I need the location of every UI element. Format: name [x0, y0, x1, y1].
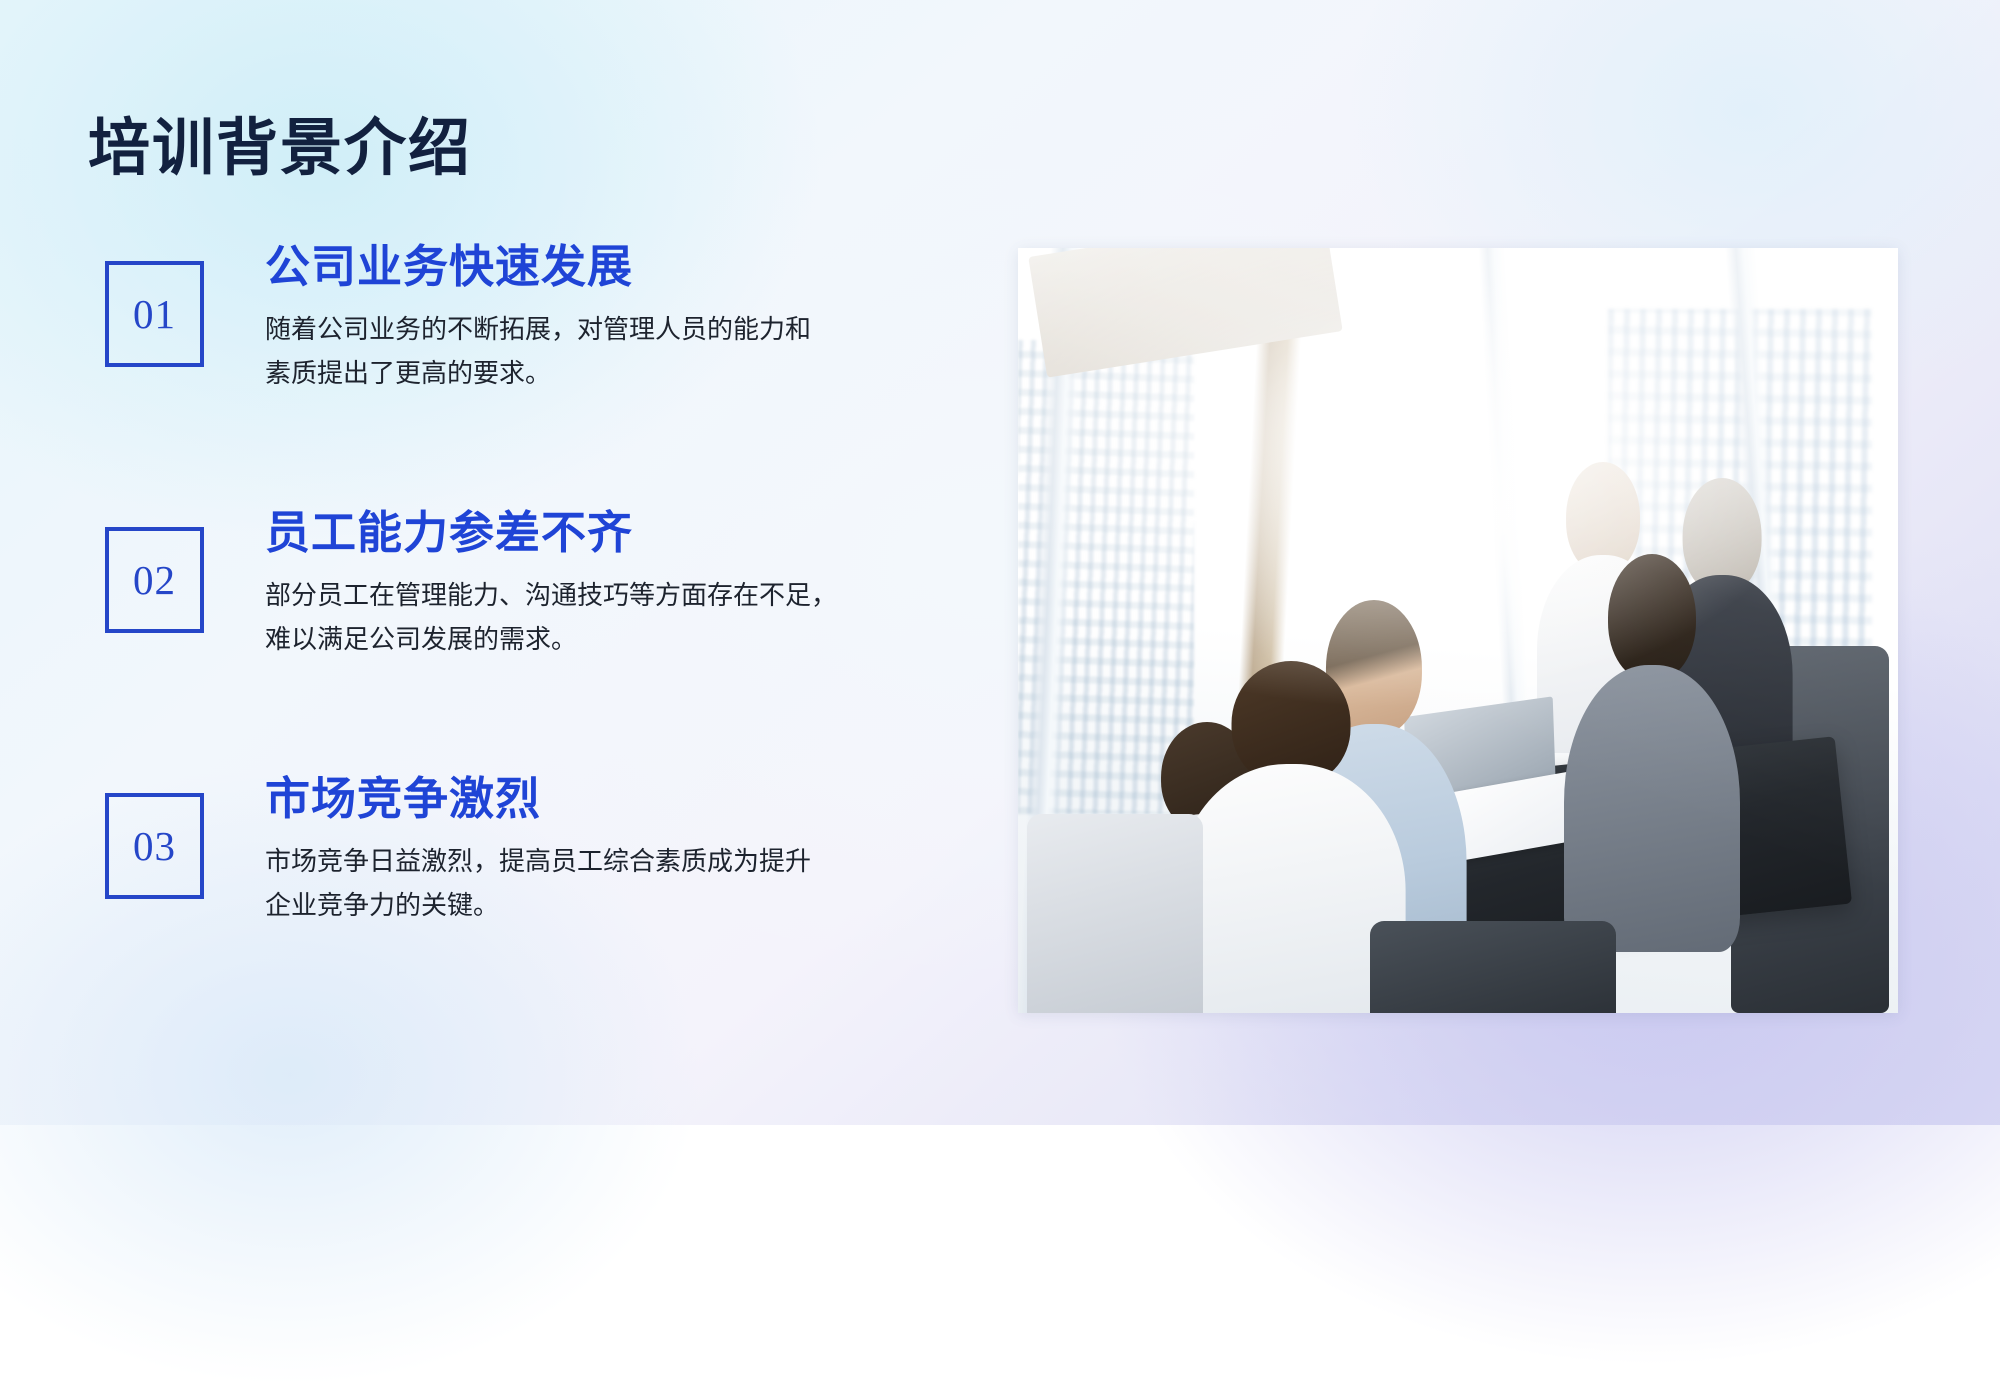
- slide: 培训背景介绍 01 公司业务快速发展 随着公司业务的不断拓展，对管理人员的能力和…: [0, 0, 2000, 1125]
- office-chair: [1370, 921, 1616, 1013]
- item-number-box: 03: [105, 793, 204, 899]
- item-body-line: 随着公司业务的不断拓展，对管理人员的能力和: [265, 308, 965, 353]
- item-number: 01: [133, 294, 176, 335]
- person-head: [1608, 554, 1696, 681]
- item-body-line: 部分员工在管理能力、沟通技巧等方面存在不足，: [265, 574, 965, 619]
- meeting-photo: [1018, 248, 1898, 1013]
- item-number-box: 02: [105, 527, 204, 633]
- content-list: 01 公司业务快速发展 随着公司业务的不断拓展，对管理人员的能力和 素质提出了更…: [100, 243, 980, 929]
- item-body: 市场竞争日益激烈，提高员工综合素质成为提升 企业竞争力的关键。: [265, 840, 965, 929]
- office-chair: [1027, 814, 1203, 1013]
- item-heading: 市场竞争激烈: [265, 775, 980, 824]
- item-body-line: 素质提出了更高的要求。: [265, 352, 965, 397]
- list-item: 01 公司业务快速发展 随着公司业务的不断拓展，对管理人员的能力和 素质提出了更…: [100, 243, 980, 397]
- item-heading: 员工能力参差不齐: [265, 509, 980, 558]
- item-number-box: 01: [105, 261, 204, 367]
- item-body-line: 企业竞争力的关键。: [265, 884, 965, 929]
- person-body: [1564, 665, 1740, 951]
- photo-scene: [1018, 248, 1898, 1013]
- list-item: 03 市场竞争激烈 市场竞争日益激烈，提高员工综合素质成为提升 企业竞争力的关键…: [100, 775, 980, 929]
- item-number: 02: [133, 560, 176, 601]
- item-number: 03: [133, 826, 176, 867]
- item-heading: 公司业务快速发展: [265, 243, 980, 292]
- item-body: 部分员工在管理能力、沟通技巧等方面存在不足， 难以满足公司发展的需求。: [265, 574, 965, 663]
- item-body-line: 难以满足公司发展的需求。: [265, 618, 965, 663]
- person-right-man: [1564, 554, 1740, 952]
- list-item: 02 员工能力参差不齐 部分员工在管理能力、沟通技巧等方面存在不足， 难以满足公…: [100, 509, 980, 663]
- item-body: 随着公司业务的不断拓展，对管理人员的能力和 素质提出了更高的要求。: [265, 308, 965, 397]
- item-body-line: 市场竞争日益激烈，提高员工综合素质成为提升: [265, 840, 965, 885]
- page-title: 培训背景介绍: [88, 114, 472, 185]
